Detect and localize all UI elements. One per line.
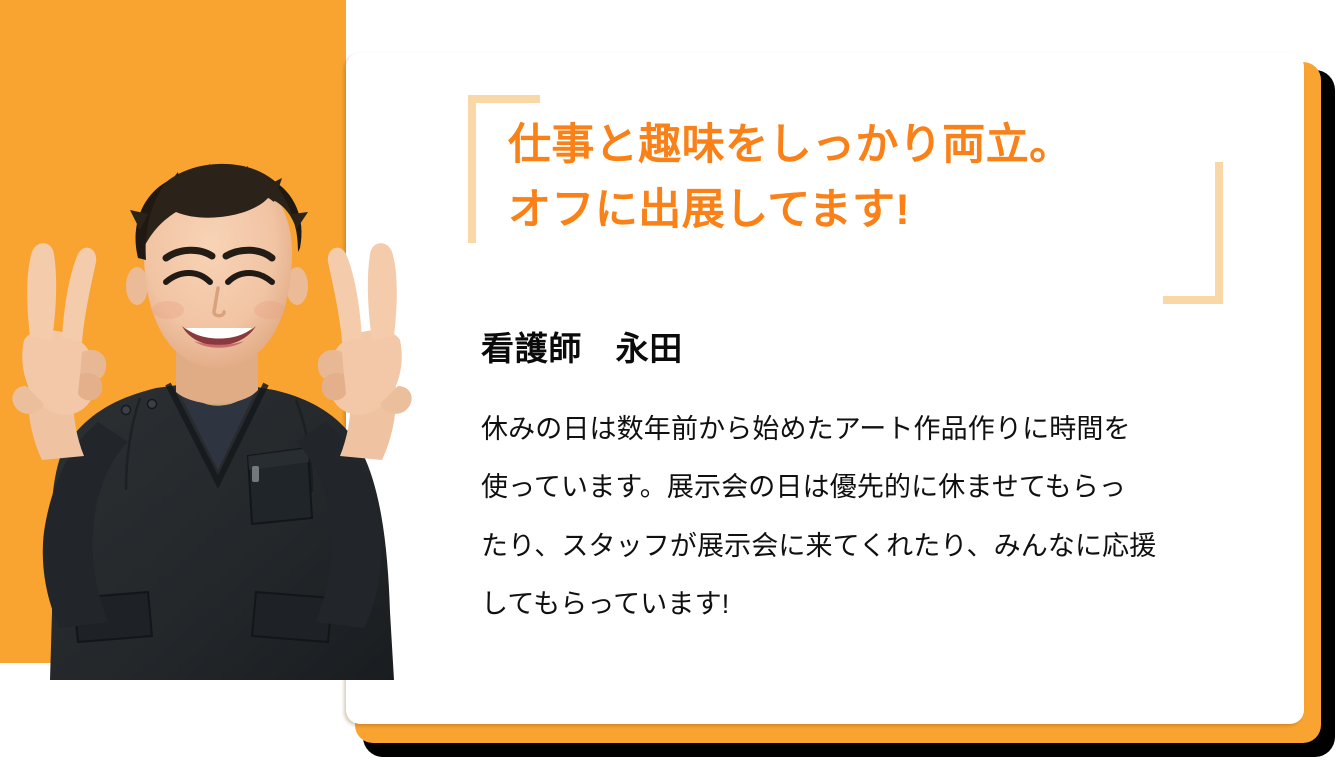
left-ear [126, 267, 148, 305]
right-index-finger [368, 243, 397, 340]
left-index-finger [27, 243, 56, 340]
left-middle-finger [62, 248, 96, 342]
testimonial-body: 休みの日は数年前から始めたアート作品作りに時間を 使っています。展示会の日は優先… [481, 400, 1243, 633]
person-name: 看護師 永田 [481, 322, 683, 370]
nurse-portrait-photo [0, 160, 460, 680]
testimonial-card-page: 仕事と趣味をしっかり両立。 オフに出展してます! 看護師 永田 休みの日は数年前… [0, 0, 1340, 762]
headline: 仕事と趣味をしっかり両立。 オフに出展してます! [508, 113, 1208, 244]
right-middle-finger [328, 248, 362, 342]
